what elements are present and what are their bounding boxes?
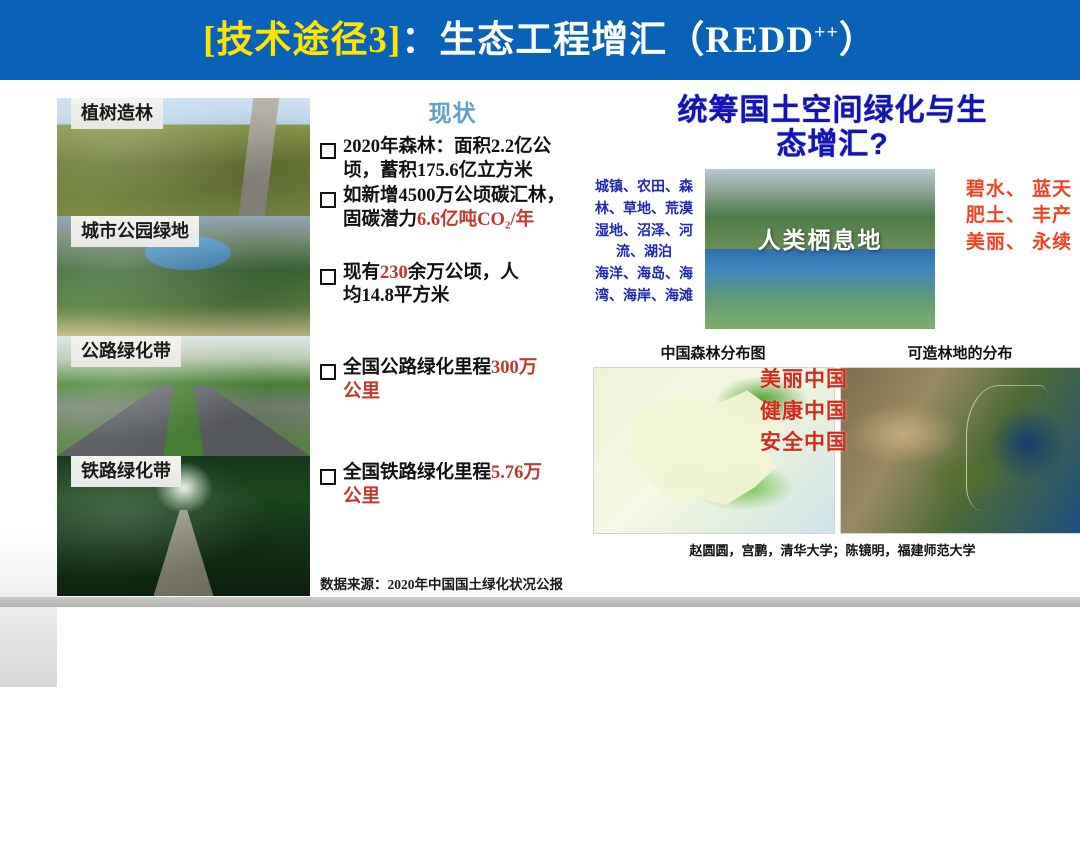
overlay-line-1: 健康中国 (760, 396, 910, 428)
text-segment: 如新增4500万公顷碳汇林， (343, 186, 565, 206)
slide-title: [技术途径3]：生态工程增汇（REDD++） (203, 22, 877, 59)
text-segment: 2020年森林：面积2.2亿公 (343, 137, 551, 157)
photo-highway-shape (57, 386, 310, 456)
spacer (320, 235, 585, 262)
map-caption-forest: 中国森林分布图 (593, 342, 833, 363)
checkbox-bullet-icon (320, 469, 336, 485)
photo-label-afforestation: 植树造林 (71, 98, 163, 129)
coastline-shape (966, 385, 1049, 511)
checkbox-bullet-icon (320, 192, 336, 208)
bullet-line: 公里 (343, 486, 542, 510)
photo-label-urban-park: 城市公园绿地 (71, 216, 199, 247)
slide-header-bar: [技术途径3]：生态工程增汇（REDD++） (0, 0, 1080, 80)
title-superscript: ++ (814, 21, 839, 43)
land-category-line-2: 湿地、沼泽、河 (585, 221, 703, 243)
text-segment: 14.8 (362, 286, 394, 306)
text-segment: 余万公顷，人 (408, 263, 519, 283)
text-segment: 均 (343, 286, 362, 306)
text-segment: 全国公路绿化里程 (343, 358, 491, 378)
right-panel: 统筹国土空间绿化与生 态增汇? 城镇、农田、森林、草地、荒漠湿地、沼泽、河流、湖… (585, 88, 1080, 603)
photo-label-railway: 铁路绿化带 (71, 456, 181, 487)
author-credit: 赵圆圆，宫鹏，清华大学；陈镜明，福建师范大学 (585, 540, 1080, 559)
checkbox-bullet-icon (320, 143, 336, 159)
text-segment: 平方米 (394, 286, 450, 306)
highlighted-value: 6.6亿吨CO₂/年 (417, 210, 534, 230)
land-category-line-3: 流、湖泊 (585, 242, 703, 264)
spacer (320, 311, 585, 357)
habitat-row: 城镇、农田、森林、草地、荒漠湿地、沼泽、河流、湖泊海洋、海岛、海湾、海岸、海滩 … (585, 169, 1080, 334)
photo-highway-green-belt: 公路绿化带 (57, 336, 310, 456)
bullet-railway-greening-mileage: 全国铁路绿化里程5.76万公里 (320, 462, 585, 509)
habitat-photo: 人类栖息地 (705, 169, 935, 329)
map-overlay-slogan: 美丽中国健康中国安全中国 (760, 364, 910, 459)
benefit-slogan-list: 碧水、 蓝天肥土、 丰产美丽、 永续 (958, 177, 1080, 256)
photo-rail-shape (154, 510, 214, 596)
map-caption-afforestable: 可造林地的分布 (840, 342, 1080, 363)
title-bracket-text: [技术途径3] (203, 20, 401, 61)
land-category-line-1: 林、草地、荒漠 (585, 199, 703, 221)
spacer (320, 406, 585, 462)
overlay-line-2: 安全中国 (760, 427, 910, 459)
highlighted-value: 230 (380, 263, 408, 283)
slogan-line-2: 美丽、 永续 (958, 230, 1080, 256)
text-segment: 顷，蓄积175.6亿立方米 (343, 161, 533, 181)
text-segment: 全国铁路绿化里程 (343, 463, 491, 483)
highlighted-value: 公里 (343, 382, 380, 402)
right-title-line-1: 统筹国土空间绿化与生 (585, 94, 1080, 128)
slide: [技术途径3]：生态工程增汇（REDD++） 植树造林 城市公园绿地 公路绿化带 (0, 0, 1080, 607)
bottom-strip (0, 597, 1080, 607)
checkbox-bullet-icon (320, 269, 336, 285)
text-segment: 现有 (343, 263, 380, 283)
slogan-line-1: 肥土、 丰产 (958, 203, 1080, 229)
title-tail: ） (839, 20, 877, 61)
checkbox-bullet-icon (320, 364, 336, 380)
bullet-line: 顷，蓄积175.6亿立方米 (343, 160, 551, 184)
photo-median-shape (57, 386, 310, 456)
status-text-column: 现状 2020年森林：面积2.2亿公顷，蓄积175.6亿立方米如新增4500万公… (320, 94, 585, 594)
bullet-existing-area: 现有230余万公顷，人均14.8平方米 (320, 262, 585, 309)
land-category-list: 城镇、农田、森林、草地、荒漠湿地、沼泽、河流、湖泊海洋、海岛、海湾、海岸、海滩 (585, 177, 703, 307)
photo-afforestation: 植树造林 (57, 98, 310, 216)
overlay-line-0: 美丽中国 (760, 364, 910, 396)
bullet-text: 2020年森林：面积2.2亿公顷，蓄积175.6亿立方米 (343, 136, 551, 183)
land-category-line-5: 湾、海岸、海滩 (585, 286, 703, 308)
slide-body: 植树造林 城市公园绿地 公路绿化带 铁路绿化带 现状 2020年森林：面积2.2… (0, 80, 1080, 607)
title-main-text: 生态工程增汇（REDD (439, 20, 814, 61)
left-margin-shading (0, 160, 57, 687)
status-bullet-list: 2020年森林：面积2.2亿公顷，蓄积175.6亿立方米如新增4500万公顷碳汇… (320, 136, 585, 510)
right-title-line-2: 态增汇? (585, 128, 1080, 162)
right-panel-title: 统筹国土空间绿化与生 态增汇? (585, 94, 1080, 161)
bullet-forest-2020: 2020年森林：面积2.2亿公顷，蓄积175.6亿立方米 (320, 136, 585, 183)
status-heading: 现状 (320, 94, 585, 128)
slogan-line-0: 碧水、 蓝天 (958, 177, 1080, 203)
land-category-line-0: 城镇、农田、森 (585, 177, 703, 199)
photo-urban-park-green-space: 城市公园绿地 (57, 216, 310, 336)
photo-column: 植树造林 城市公园绿地 公路绿化带 铁路绿化带 (57, 98, 310, 602)
bullet-line: 2020年森林：面积2.2亿公 (343, 136, 551, 160)
bullet-text: 现有230余万公顷，人均14.8平方米 (343, 262, 519, 309)
highlighted-value: 5.76万 (491, 463, 542, 483)
habitat-photo-label: 人类栖息地 (705, 221, 935, 255)
bullet-line: 公里 (343, 381, 537, 405)
bullet-carbon-sink-forest: 如新增4500万公顷碳汇林，固碳潜力6.6亿吨CO₂/年 (320, 185, 585, 232)
habitat-photo-bottom (705, 249, 935, 329)
photo-road-shape (239, 98, 279, 216)
maps-row: 中国森林分布图 可造林地的分布 美丽中国健康中国安全中国 赵圆圆，宫鹏，清华大学… (585, 342, 1080, 557)
photo-label-highway: 公路绿化带 (71, 336, 181, 367)
bullet-line: 均14.8平方米 (343, 285, 519, 309)
highlighted-value: 公里 (343, 487, 380, 507)
land-category-line-4: 海洋、海岛、海 (585, 264, 703, 286)
title-colon: ： (401, 20, 439, 61)
photo-railway-green-belt: 铁路绿化带 (57, 456, 310, 596)
bullet-line: 全国公路绿化里程300万 (343, 357, 537, 381)
bullet-text: 全国公路绿化里程300万公里 (343, 357, 537, 404)
text-segment: 固碳潜力 (343, 210, 417, 230)
bullet-line: 如新增4500万公顷碳汇林， (343, 185, 565, 209)
bullet-highway-greening-mileage: 全国公路绿化里程300万公里 (320, 357, 585, 404)
bullet-line: 固碳潜力6.6亿吨CO₂/年 (343, 209, 565, 233)
highlighted-value: 300万 (491, 358, 537, 378)
bullet-line: 全国铁路绿化里程5.76万 (343, 462, 542, 486)
bullet-text: 全国铁路绿化里程5.76万公里 (343, 462, 542, 509)
bullet-line: 现有230余万公顷，人 (343, 262, 519, 286)
bullet-text: 如新增4500万公顷碳汇林，固碳潜力6.6亿吨CO₂/年 (343, 185, 565, 232)
